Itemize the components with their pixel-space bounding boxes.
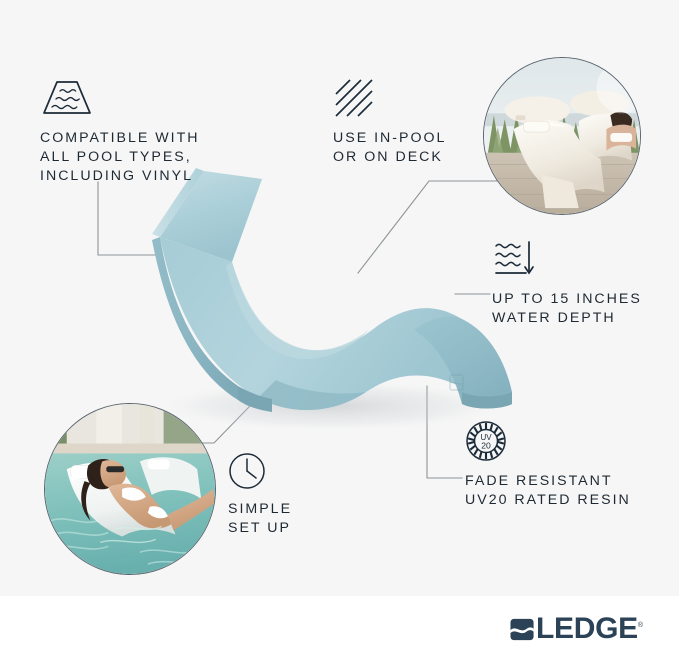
water-depth-icon bbox=[492, 238, 538, 280]
deck-hatch-icon bbox=[333, 78, 375, 118]
callout-fade-resistant-label: FADE RESISTANT UV20 RATED RESIN bbox=[465, 472, 665, 510]
brand-trademark-symbol: ® bbox=[638, 622, 643, 629]
product-infographic-panel: COMPATIBLE WITH ALL POOL TYPES, INCLUDIN… bbox=[0, 0, 679, 596]
callout-pool-types: COMPATIBLE WITH ALL POOL TYPES, INCLUDIN… bbox=[40, 78, 290, 186]
pool-trapezoid-icon bbox=[40, 78, 94, 118]
callout-pool-types-label: COMPATIBLE WITH ALL POOL TYPES, INCLUDIN… bbox=[40, 129, 290, 186]
callout-in-pool-or-deck: USE IN-POOL OR ON DECK bbox=[333, 78, 518, 167]
callout-water-depth: UP TO 15 INCHES WATER DEPTH bbox=[492, 238, 672, 328]
clock-icon bbox=[228, 452, 266, 490]
callout-simple-setup: SIMPLE SET UP bbox=[228, 452, 348, 538]
callout-in-pool-or-deck-label: USE IN-POOL OR ON DECK bbox=[333, 129, 518, 167]
brand-logo: LEDGE® bbox=[510, 614, 643, 644]
brand-wordmark-container: LEDGE® bbox=[536, 614, 643, 644]
photo-in-pool-lounge bbox=[44, 403, 216, 575]
brand-wordmark-text: LEDGE bbox=[536, 612, 638, 645]
callout-water-depth-label: UP TO 15 INCHES WATER DEPTH bbox=[492, 290, 672, 328]
callout-simple-setup-label: SIMPLE SET UP bbox=[228, 500, 348, 538]
callout-fade-resistant: UV 20 FADE RESISTANT UV20 RATED RESIN bbox=[465, 420, 665, 510]
uv-icon-bottom-label: 20 bbox=[481, 441, 491, 451]
footer-bar: LEDGE® bbox=[0, 596, 679, 651]
uv-sun-icon: UV 20 bbox=[465, 420, 507, 462]
ledge-wave-square-logo bbox=[510, 617, 535, 642]
